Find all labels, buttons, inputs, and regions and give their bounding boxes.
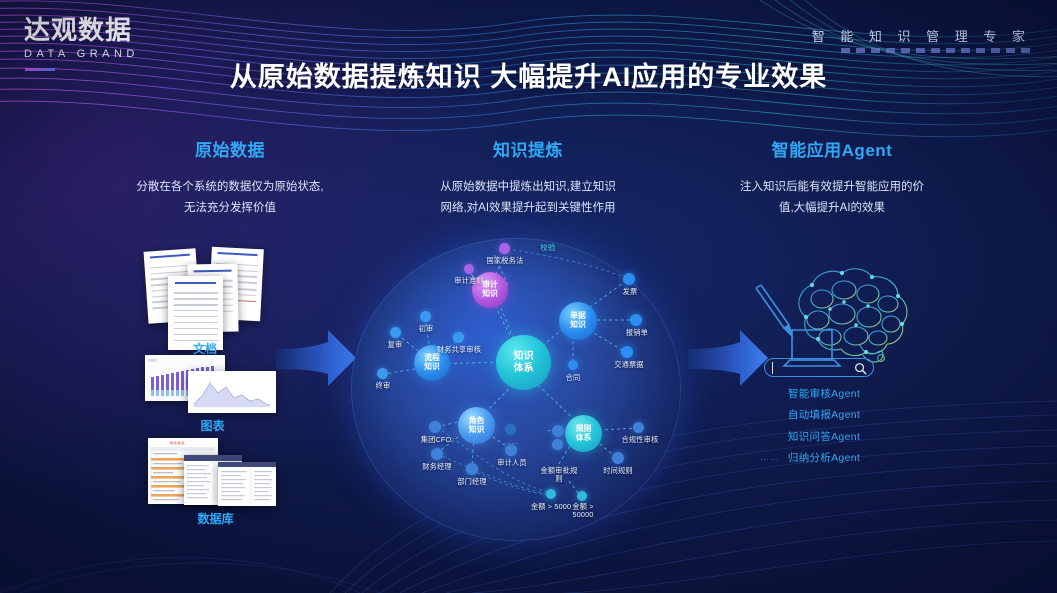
- graph-leaf-label-tax-law: 国家税务法: [479, 256, 531, 266]
- graph-leaf-label-first-review: 初审: [409, 324, 443, 334]
- agent-search-bar[interactable]: [764, 358, 874, 377]
- knowledge-graph: 知识 体系 审计 知识 国家税务法 审计准则 校验 流程 知识 初审 复审 财务…: [333, 235, 693, 545]
- column-heading: 智能应用Agent: [672, 136, 992, 161]
- svg-text:月度统计: 月度统计: [148, 358, 158, 362]
- column-description: 注入知识后能有效提升智能应用的价 值,大幅提升AI的效果: [672, 177, 992, 220]
- graph-leaf-label-finance-manager: 财务经理: [414, 462, 460, 472]
- agent-item[interactable]: 自动填报Agent: [744, 405, 904, 426]
- graph-leaf-re-review[interactable]: [390, 327, 401, 338]
- graph-leaf-tax-law[interactable]: [499, 243, 510, 254]
- graph-leaf-transport-ticket[interactable]: [621, 346, 633, 358]
- graph-leaf-label-time-rule: 时间规则: [596, 466, 640, 476]
- search-caret: [772, 362, 773, 374]
- brand-tagline: 智 能 知 识 管 理 专 家: [812, 26, 1031, 45]
- brand-name-cn: 达观数据: [24, 16, 139, 45]
- graph-leaf-contract[interactable]: [568, 360, 578, 370]
- node-label-line2: 知识: [570, 320, 586, 329]
- graph-node-document-knowledge[interactable]: 单据 知识: [559, 302, 597, 340]
- graph-node-hub[interactable]: 知识 体系: [496, 335, 551, 390]
- graph-leaf-amount-rule-node[interactable]: [552, 439, 563, 450]
- column-raw-data: 原始数据 分散在各个系统的数据仅为原始状态, 无法充分发挥价值: [60, 136, 400, 220]
- desc-line: 网络,对AI效果提升起到关键性作用: [378, 198, 678, 219]
- node-label-line2: 知识: [424, 362, 440, 371]
- graph-leaf-more-rules[interactable]: [505, 424, 516, 435]
- agent-item[interactable]: 智能审核Agent: [744, 384, 904, 405]
- column-knowledge-extraction: 知识提炼 从原始数据中提炼出知识,建立知识 网络,对AI效果提升起到关键性作用: [378, 136, 678, 220]
- graph-leaf-final-review[interactable]: [377, 368, 388, 379]
- graph-leaf-expense-form[interactable]: [630, 314, 642, 326]
- graph-leaf-label-shared-finance-review: 财务共享审核: [431, 345, 487, 355]
- stack-label-charts: 图表: [145, 417, 280, 434]
- graph-leaf-label-auditor: 审计人员: [489, 458, 535, 468]
- graph-leaf-audit-standard[interactable]: [464, 264, 474, 274]
- graph-leaf-amount-50000[interactable]: [577, 491, 587, 501]
- source-stack-charts: 月度统计 图表: [145, 355, 280, 445]
- graph-leaf-label-audit-standard: 审计准则: [445, 276, 493, 286]
- graph-leaf-label-expense-form: 报销单: [616, 328, 658, 338]
- graph-leaf-group-cfo[interactable]: [429, 421, 441, 433]
- source-stack-database: 财 务 报 表: [148, 438, 283, 528]
- graph-leaf-label-compliance-review: 合规性审核: [616, 435, 664, 445]
- graph-node-role-knowledge[interactable]: 角色 知识: [458, 407, 495, 444]
- graph-leaf-label-amount-approval-rule: 金额审批规则: [538, 467, 580, 484]
- search-icon[interactable]: [854, 362, 867, 375]
- stack-label-database: 数据库: [148, 510, 283, 527]
- svg-text:财 务 报 表: 财 务 报 表: [170, 440, 185, 445]
- tagline-dash-decoration: [841, 48, 1031, 53]
- database-summary-thumbnail: [218, 462, 276, 506]
- node-label-line2: 知识: [482, 289, 498, 298]
- brand-logo[interactable]: 达观数据 DATA GRAND: [24, 16, 139, 60]
- area-chart-thumbnail: [188, 371, 276, 413]
- node-label-line2: 知识: [469, 425, 485, 434]
- graph-leaf-label-transport-ticket: 交通票据: [605, 360, 653, 370]
- desc-line: 无法充分发挥价值: [60, 198, 400, 219]
- graph-leaf-time-rule[interactable]: [612, 452, 624, 464]
- graph-leaf-amount-5000[interactable]: [546, 489, 556, 499]
- column-heading: 知识提炼: [378, 136, 678, 161]
- agent-list-more-dots: ……: [760, 452, 780, 462]
- column-intelligent-agent: 智能应用Agent 注入知识后能有效提升智能应用的价 值,大幅提升AI的效果: [672, 136, 992, 220]
- agent-item[interactable]: 知识问答Agent: [744, 427, 904, 448]
- graph-leaf-finance-manager[interactable]: [431, 448, 443, 460]
- graph-leaf-label-department-manager: 部门经理: [449, 477, 495, 487]
- document-thumbnail: [168, 276, 223, 350]
- column-heading: 原始数据: [60, 136, 400, 161]
- graph-leaf-shared-finance-review[interactable]: [453, 332, 464, 343]
- graph-leaf-label-group-cfo: 集团CFO: [413, 435, 459, 445]
- graph-leaf-amount-approval-rule[interactable]: [552, 425, 564, 437]
- hub-label-line2: 体系: [514, 363, 534, 374]
- graph-leaf-label-more-rules: ……: [494, 437, 528, 446]
- graph-leaf-first-review[interactable]: [420, 311, 431, 322]
- node-label-line1: 单据: [570, 311, 586, 320]
- desc-line: 注入知识后能有效提升智能应用的价: [672, 177, 992, 198]
- graph-leaf-label-re-review: 复审: [378, 340, 412, 350]
- desc-line: 从原始数据中提炼出知识,建立知识: [378, 177, 678, 198]
- hub-label-line1: 知识: [514, 351, 534, 362]
- graph-node-rule-system[interactable]: 规则 体系: [565, 415, 602, 452]
- graph-leaf-label-final-review: 终审: [366, 381, 400, 391]
- graph-leaf-invoice[interactable]: [623, 273, 635, 285]
- desc-line: 值,大幅提升AI的效果: [672, 198, 992, 219]
- graph-leaf-label-invoice: 发票: [613, 287, 647, 297]
- desc-line: 分散在各个系统的数据仅为原始状态,: [60, 177, 400, 198]
- graph-leaf-label-contract: 合同: [556, 373, 590, 383]
- node-label-line2: 体系: [576, 433, 592, 442]
- source-stack-documents: 文档: [140, 248, 270, 358]
- graph-leaf-label-amount-50000: 金额 > 50000: [563, 503, 603, 520]
- column-description: 分散在各个系统的数据仅为原始状态, 无法充分发挥价值: [60, 177, 400, 220]
- node-label-line1: 角色: [469, 416, 485, 425]
- node-label-line1: 规则: [576, 424, 592, 433]
- graph-edge-label-verify: 校验: [533, 242, 563, 253]
- column-description: 从原始数据中提炼出知识,建立知识 网络,对AI效果提升起到关键性作用: [378, 177, 678, 220]
- graph-leaf-department-manager[interactable]: [466, 463, 478, 475]
- page-title: 从原始数据提炼知识 大幅提升AI应用的专业效果: [0, 55, 1057, 94]
- graph-leaf-compliance-review[interactable]: [633, 422, 644, 433]
